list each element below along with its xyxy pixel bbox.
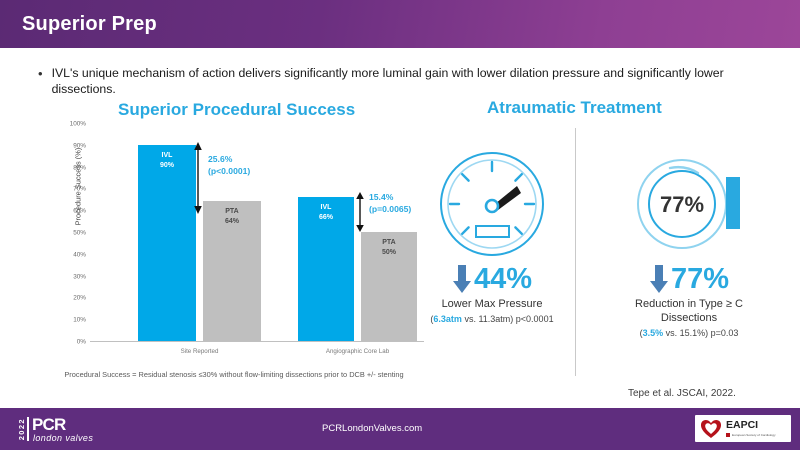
stat-value-row: 44% (412, 264, 572, 294)
bar-ivl-core-lab: IVL 66% (298, 197, 354, 341)
bar-ivl-site-reported: IVL 90% (138, 145, 196, 341)
x-axis-category-label: Site Reported (138, 348, 261, 355)
pressure-gauge-icon (412, 148, 572, 260)
y-axis-tick: 10% (73, 317, 86, 324)
bar-pta-core-lab: PTA 50% (361, 232, 417, 341)
down-arrow-icon (452, 264, 472, 294)
delta-arrow-icon (355, 192, 365, 232)
stat-panel-pressure: 44% Lower Max Pressure (6.3atm vs. 11.3a… (412, 148, 572, 325)
heart-icon (700, 419, 722, 439)
page-title: Superior Prep (22, 13, 157, 36)
procedural-success-chart: Procedure Success (%) 0%10%20%30%40%50%6… (34, 124, 424, 356)
bar-label: PTA 50% (361, 238, 417, 258)
stat-value: 77% (671, 264, 729, 294)
esc-mark-icon (726, 433, 730, 437)
bullet-marker: • (38, 66, 43, 82)
stat-caption: Lower Max Pressure (412, 297, 572, 311)
stat-value-row: 77% (596, 264, 782, 294)
stat-value: 44% (474, 264, 532, 294)
dissection-ring-icon: 77% (596, 148, 782, 260)
stat-substat: (3.5% vs. 15.1%) p=0.03 (596, 327, 782, 339)
bullet-item: • IVL's unique mechanism of action deliv… (38, 66, 766, 97)
down-arrow-icon (649, 264, 669, 294)
section-title-right: Atraumatic Treatment (487, 98, 662, 118)
slide: Superior Prep • IVL's unique mechanism o… (0, 0, 800, 450)
eapci-subtitle: European Society of Cardiology (732, 434, 776, 437)
eapci-logo: EAPCI European Society of Cardiology (695, 415, 791, 442)
y-axis-tick-labels: 0%10%20%30%40%50%60%70%80%90%100% (56, 124, 86, 342)
x-axis-category-label: Angiographic Core Lab (298, 348, 417, 355)
y-axis-tick: 90% (73, 142, 86, 149)
bar-pta-site-reported: PTA 64% (203, 201, 261, 341)
pcr-logo-subtitle: london valves (33, 433, 93, 443)
delta-annotation-2: 15.4% (p=0.0065) (369, 192, 411, 215)
section-title-left: Superior Procedural Success (118, 100, 355, 120)
footer-year: 2022 (17, 418, 26, 440)
chart-footnote: Procedural Success = Residual stenosis ≤… (44, 370, 424, 381)
citation: Tepe et al. JSCAI, 2022. (628, 388, 736, 399)
pcr-logo-text: PCR (32, 415, 66, 435)
y-axis-tick: 50% (73, 230, 86, 237)
bullet-text: IVL's unique mechanism of action deliver… (52, 66, 766, 97)
bar-label: IVL 90% (138, 151, 196, 171)
eapci-text: EAPCI European Society of Cardiology (726, 420, 776, 438)
y-axis-tick: 80% (73, 164, 86, 171)
footer-rule (27, 417, 29, 441)
bar-label: IVL 66% (298, 203, 354, 223)
y-axis-tick: 40% (73, 251, 86, 258)
slide-header: Superior Prep (0, 0, 800, 48)
ring-label: 77% (660, 192, 704, 217)
stat-substat: (6.3atm vs. 11.3atm) p<0.0001 (412, 313, 572, 325)
delta-annotation-1: 25.6% (p<0.0001) (208, 154, 250, 177)
stat-caption: Reduction in Type ≥ C Dissections (596, 297, 782, 325)
delta-arrow-icon (193, 142, 203, 214)
eapci-subtitle-row: European Society of Cardiology (726, 432, 776, 437)
y-axis-tick: 30% (73, 273, 86, 280)
y-axis-tick: 60% (73, 208, 86, 215)
x-axis-line (90, 341, 424, 342)
stat-panel-dissections: 77% 77% Reduction in Type ≥ C Dissection… (596, 148, 782, 339)
eapci-name: EAPCI (726, 420, 776, 431)
y-axis-tick: 0% (77, 339, 86, 346)
y-axis-tick: 20% (73, 295, 86, 302)
y-axis-tick: 70% (73, 186, 86, 193)
footer-url[interactable]: PCRLondonValves.com (322, 423, 422, 434)
panel-divider (575, 128, 576, 376)
slide-footer: 2022 PCR london valves PCRLondonValves.c… (0, 408, 800, 450)
chart-plot-area: IVL 90% PTA 64% IVL 66% PTA (90, 124, 424, 342)
bar-label: PTA 64% (203, 207, 261, 227)
y-axis-tick: 100% (70, 121, 86, 128)
